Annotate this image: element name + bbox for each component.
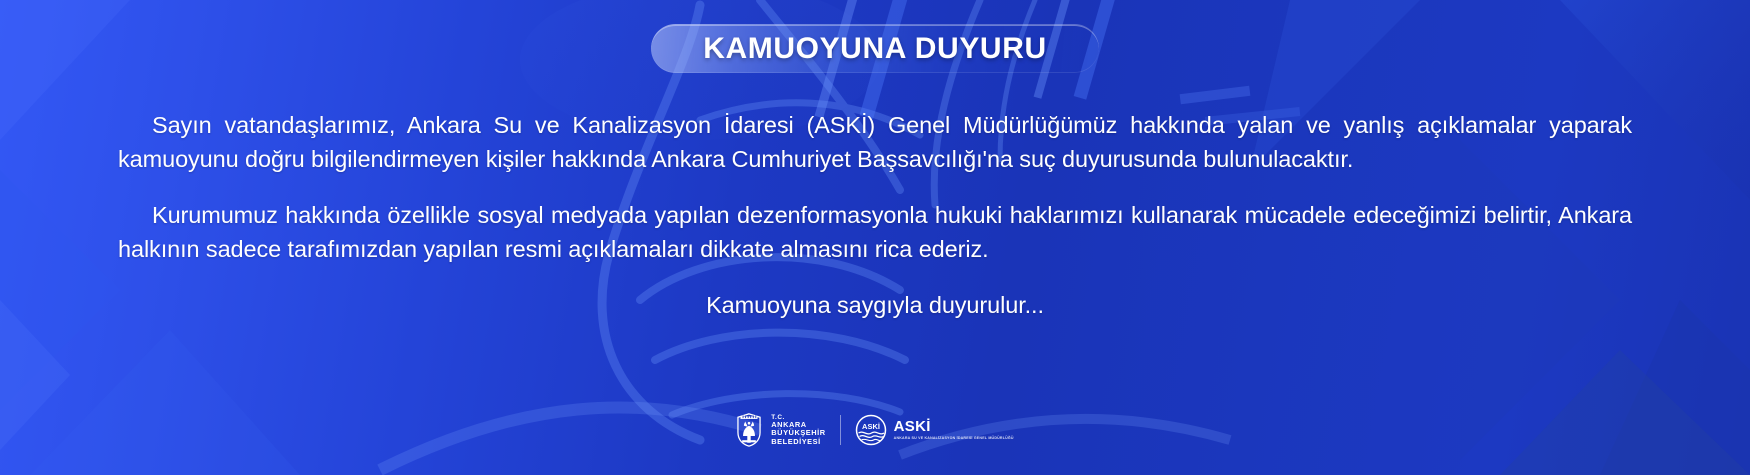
aski-wordmark-block: ASKİ ANKARA SU VE KANALİZASYON İDARESİ G… bbox=[894, 419, 1014, 440]
municipality-wordmark: T.C. ANKARA BÜYÜKŞEHİR BELEDİYESİ bbox=[771, 414, 825, 446]
footer-logos: T.C. ANKARA BÜYÜKŞEHİR BELEDİYESİ ASKİ A… bbox=[0, 413, 1750, 447]
aski-logo-group: ASKİ ASKİ ANKARA SU VE KANALİZASYON İDAR… bbox=[855, 414, 1014, 446]
public-announcement-banner: KAMUOYUNA DUYURU Sayın vatandaşlarımız, … bbox=[0, 0, 1750, 475]
paragraph-2: Kurumumuz hakkında özellikle sosyal medy… bbox=[118, 198, 1632, 266]
aski-subtitle: ANKARA SU VE KANALİZASYON İDARESİ GENEL … bbox=[894, 436, 1014, 440]
announcement-body: Sayın vatandaşlarımız, Ankara Su ve Kana… bbox=[118, 108, 1632, 322]
municipality-logo-group: T.C. ANKARA BÜYÜKŞEHİR BELEDİYESİ bbox=[736, 413, 825, 447]
page-title: KAMUOYUNA DUYURU bbox=[703, 32, 1046, 66]
svg-text:ASKİ: ASKİ bbox=[862, 422, 880, 431]
title-badge: KAMUOYUNA DUYURU bbox=[651, 24, 1098, 73]
aski-wordmark: ASKİ bbox=[894, 419, 1014, 434]
paragraph-1: Sayın vatandaşlarımız, Ankara Su ve Kana… bbox=[118, 108, 1632, 176]
logo-divider bbox=[840, 415, 841, 445]
ankara-buyuksehir-belediyesi-crest-icon bbox=[736, 413, 762, 447]
closing-line: Kamuoyuna saygıyla duyurulur... bbox=[118, 288, 1632, 322]
title-badge-container: KAMUOYUNA DUYURU bbox=[0, 24, 1750, 73]
municipality-line-belediyesi: BELEDİYESİ bbox=[771, 438, 825, 446]
aski-circular-logo-icon: ASKİ bbox=[855, 414, 887, 446]
